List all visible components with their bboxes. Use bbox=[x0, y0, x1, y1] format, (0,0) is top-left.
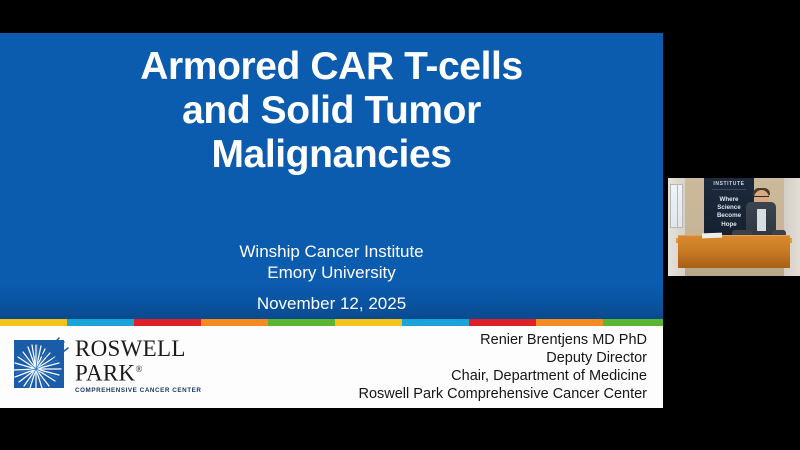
slide-subtitle: Winship Cancer Institute Emory Universit… bbox=[0, 241, 663, 283]
speaker-title-2: Chair, Department of Medicine bbox=[227, 367, 647, 385]
podium-papers bbox=[702, 233, 722, 239]
banner-divider bbox=[712, 189, 746, 190]
banner-tagline: Where Science Become Hope bbox=[707, 196, 751, 229]
color-strip-segment bbox=[134, 319, 201, 326]
title-line-3: Malignancies bbox=[0, 133, 663, 177]
window-mullion bbox=[677, 185, 678, 227]
banner-header-text: INSTITUTE bbox=[708, 181, 750, 187]
slide-title: Armored CAR T-cells and Solid Tumor Mali… bbox=[0, 45, 663, 177]
logo-wordmark: ROSWELL PARK® COMPREHENSIVE CANCER CENTE… bbox=[75, 336, 201, 396]
color-strip-segment bbox=[335, 319, 402, 326]
color-strip-segment bbox=[402, 319, 469, 326]
registered-trademark-icon: ® bbox=[135, 364, 142, 374]
color-strip-segment bbox=[536, 319, 603, 326]
color-strip-segment bbox=[67, 319, 134, 326]
logo-tagline: COMPREHENSIVE CANCER CENTER bbox=[75, 386, 201, 396]
roswell-park-logo[interactable]: ROSWELL PARK® COMPREHENSIVE CANCER CENTE… bbox=[14, 336, 214, 398]
color-strip-segment bbox=[0, 319, 67, 326]
slide-viewer-stage: Armored CAR T-cells and Solid Tumor Mali… bbox=[0, 0, 800, 450]
podium bbox=[678, 235, 790, 268]
speaker-credentials: Renier Brentjens MD PhD Deputy Director … bbox=[227, 331, 647, 403]
subtitle-line-1: Winship Cancer Institute bbox=[0, 241, 663, 262]
banner-line-3: Become bbox=[707, 212, 751, 220]
presenter-shirt bbox=[757, 209, 766, 231]
subtitle-line-2: Emory University bbox=[0, 262, 663, 283]
logo-word-roswell: ROSWELL bbox=[75, 338, 201, 359]
glasses-icon bbox=[754, 196, 769, 200]
starburst-icon bbox=[14, 336, 69, 388]
color-strip-segment bbox=[268, 319, 335, 326]
banner-line-2: Science bbox=[707, 204, 751, 212]
title-line-2: and Solid Tumor bbox=[0, 89, 663, 133]
speaker-title-1: Deputy Director bbox=[227, 349, 647, 367]
speaker-affiliation: Roswell Park Comprehensive Cancer Center bbox=[227, 385, 647, 403]
slide-blue-panel: Armored CAR T-cells and Solid Tumor Mali… bbox=[0, 33, 663, 319]
banner-line-4: Hope bbox=[707, 221, 751, 229]
presenter-webcam-feed[interactable]: INSTITUTE Where Science Become Hope bbox=[668, 178, 800, 276]
color-strip-segment bbox=[469, 319, 536, 326]
speaker-name: Renier Brentjens MD PhD bbox=[227, 331, 647, 349]
logo-word-park: PARK® bbox=[75, 359, 201, 384]
color-strip-segment bbox=[603, 319, 663, 326]
presentation-slide[interactable]: Armored CAR T-cells and Solid Tumor Mali… bbox=[0, 33, 663, 408]
slide-footer: ROSWELL PARK® COMPREHENSIVE CANCER CENTE… bbox=[0, 326, 663, 408]
slide-date: November 12, 2025 bbox=[0, 294, 663, 314]
title-line-1: Armored CAR T-cells bbox=[0, 45, 663, 89]
brand-color-strip bbox=[0, 319, 663, 326]
room-window bbox=[670, 184, 683, 228]
webcam-scene: INSTITUTE Where Science Become Hope bbox=[668, 178, 800, 276]
banner-line-1: Where bbox=[707, 196, 751, 204]
color-strip-segment bbox=[201, 319, 268, 326]
